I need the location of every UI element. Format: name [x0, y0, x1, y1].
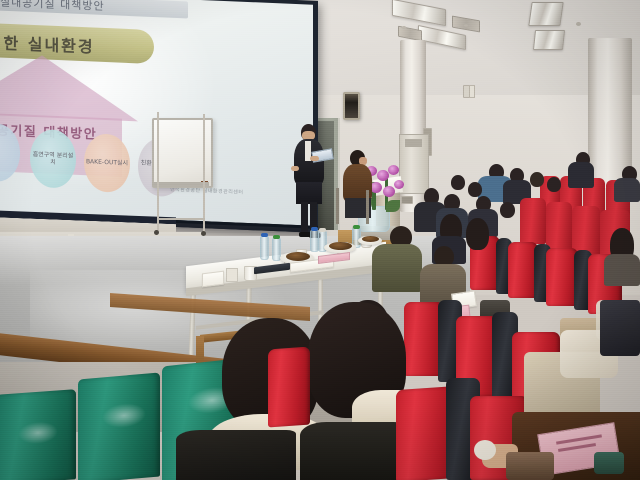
food-items: [362, 236, 379, 242]
whiteboard-wheel: [154, 230, 159, 235]
cabinet-vent: [405, 139, 422, 147]
seat[interactable]: [520, 198, 546, 244]
audience-body: [372, 244, 422, 292]
dark-bag[interactable]: [600, 300, 640, 356]
slide-title-text: 쾌적한 실내환경: [0, 28, 95, 57]
seat[interactable]: [268, 347, 310, 428]
slide-oval-1: 흡연구역 분리설치: [30, 129, 76, 189]
presenter-skirt: [296, 182, 322, 204]
audience-head: [468, 182, 482, 197]
attendee-coat: [176, 430, 296, 480]
attendee-sleeve: [506, 452, 554, 480]
presenter-hand: [310, 156, 319, 161]
chair-leg: [336, 188, 339, 224]
seated-attendant: [341, 150, 375, 220]
seat[interactable]: [546, 202, 572, 250]
slide-house-graphic: [0, 51, 138, 121]
lecture-hall-photo: 발표회 표회 대학교 환경공학과 실내공기질 대책방안 쾌적한 실내환경 실내공…: [0, 0, 640, 480]
whiteboard-tray: [152, 182, 209, 186]
orchid-bloom: [394, 180, 404, 189]
foreground-seat[interactable]: [78, 372, 160, 480]
audience-head: [530, 172, 544, 187]
audience-head: [547, 177, 561, 192]
tissue: [474, 440, 496, 460]
audience-body: [604, 254, 640, 286]
audience-body: [568, 162, 594, 188]
audience-head: [500, 202, 515, 218]
presenter: [288, 124, 332, 242]
orchid-bloom: [388, 165, 399, 175]
green-cup[interactable]: [594, 452, 624, 474]
whiteboard-leg: [157, 112, 159, 232]
presenter-leg: [301, 202, 308, 234]
ceiling-sprinkler: [402, 26, 406, 29]
wall-light-switch[interactable]: [469, 85, 475, 98]
tissue-box: [226, 268, 238, 282]
ceiling-sprinkler: [464, 24, 468, 27]
audience-head: [451, 175, 465, 190]
presenter-hand: [291, 166, 299, 171]
ceiling-sprinkler: [576, 22, 581, 26]
audience-head: [466, 218, 489, 250]
water-bottle[interactable]: [260, 236, 269, 260]
food-items: [329, 242, 352, 250]
slide-oval-2: BAKE-OUT실시: [84, 133, 130, 193]
foreground-seat[interactable]: [0, 389, 76, 480]
ceiling-light: [528, 2, 563, 26]
wall-speaker: [343, 92, 360, 120]
chair-leg: [366, 190, 369, 224]
ceiling-light: [533, 30, 565, 50]
whiteboard-leg: [203, 114, 205, 232]
column-right: [588, 38, 632, 188]
seat[interactable]: [572, 206, 600, 256]
audience-body: [614, 178, 640, 202]
table-napkins: [202, 271, 224, 288]
orchid-bloom: [383, 186, 395, 197]
projection-screen: 실내공기질 대책방안 쾌적한 실내환경 실내공기질 대책방안 흡연구역 분리설치…: [0, 0, 318, 233]
whiteboard-crossbar: [157, 218, 205, 220]
orchid-bloom: [377, 170, 389, 181]
